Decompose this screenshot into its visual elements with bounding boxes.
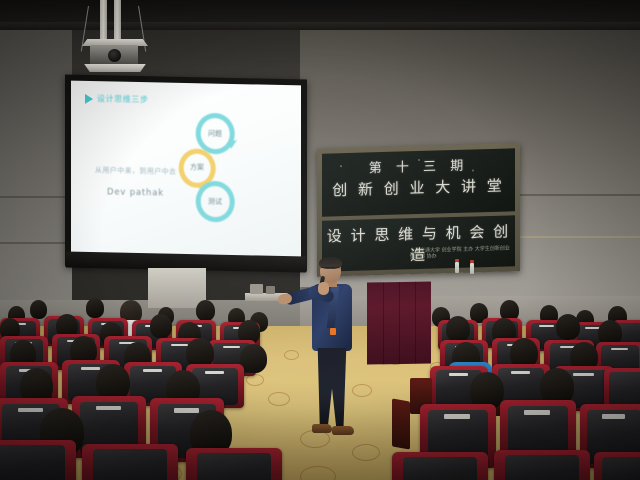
projector-lens-icon [108,49,121,62]
audience-head [86,298,104,318]
bottle-cap [455,259,459,262]
presenter-right-hand [318,282,329,295]
projector-base-plate [80,64,150,72]
seat-armrest [392,398,410,449]
cycle-step-test: 测试 [189,175,241,228]
projection-screen: 设计思维三步 从用户中来，到用户中去 Dev pathak 问题 方案 [65,74,307,271]
blackboard-line-1: 第 十 三 期 [322,153,515,177]
wall-seam [508,236,640,238]
audience-head [30,300,47,319]
seat[interactable] [594,452,640,480]
wall-seam [508,194,640,196]
slide-surface: 设计思维三步 从用户中来，到用户中去 Dev pathak 问题 方案 [71,81,301,262]
blackboard-line-2: 创 新 创 业 大 讲 堂 [322,174,515,200]
slide-title: 设计思维三步 [97,93,149,105]
seat[interactable] [186,448,282,480]
left-wall [0,30,72,330]
presenter [296,258,388,444]
projector-rod [114,0,121,40]
audience-head [196,300,215,321]
blackboard: 第 十 三 期 创 新 创 业 大 讲 堂 设 计 思 维 与 机 会 创 造 … [317,143,520,277]
lecture-hall-photo: 设计思维三步 从用户中来，到用户中去 Dev pathak 问题 方案 [0,0,640,480]
seat[interactable] [494,450,590,480]
audience-head [446,316,470,342]
water-bottle [470,263,474,274]
audience-head [240,344,267,373]
bottle-cap [470,260,474,263]
blackboard-top-panel: 第 十 三 期 创 新 创 业 大 讲 堂 [322,148,515,216]
seat[interactable] [0,440,76,480]
wall-seam [0,242,72,244]
projector-rod [100,0,107,40]
audience-head [556,314,580,340]
water-bottle [455,262,459,273]
screen-wall-mount [148,268,206,308]
seat[interactable] [392,452,488,480]
presenter-legs [315,348,349,426]
seat[interactable] [82,444,178,480]
cycle-label: 测试 [189,175,241,228]
slide-subtitle-en: Dev pathak [107,187,164,198]
slide-header: 设计思维三步 [85,93,149,105]
slide-subtitle-cn: 从用户中来，到用户中去 [95,165,176,177]
wall-seam [0,196,72,198]
triangle-bullet-icon [85,93,93,103]
glasses-icon [320,267,340,273]
lanyard-badge [330,328,336,335]
projector [78,0,152,80]
presenter-shoe [312,424,332,433]
table-item [266,286,275,294]
audience-head [150,314,172,338]
table-item [250,284,263,294]
presenter-shoe [332,426,354,435]
